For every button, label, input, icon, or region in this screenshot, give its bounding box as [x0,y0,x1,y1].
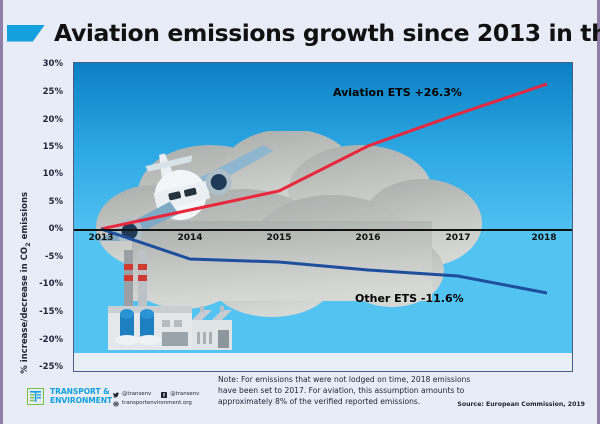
social-row-top: @transenv @transenv [113,390,199,399]
y-tick-30: 30% [43,59,63,69]
y-axis-title-suffix: emissions [20,192,30,242]
organization-logo[interactable]: TRANSPORT & ENVIRONMENT [27,388,112,405]
y-tick-m10: -10% [39,279,63,289]
zero-axis-line [74,229,572,231]
twitter-icon[interactable] [113,392,119,398]
chart-plot-area: 2013 2014 2015 2016 2017 2018 [73,62,573,372]
y-tick-5: 5% [49,197,63,207]
globe-icon[interactable] [113,401,119,407]
x-tick-2018: 2018 [531,233,556,243]
y-axis-title-sub: 2 [24,242,32,247]
chart-series-lines [74,63,573,372]
x-tick-2013: 2013 [88,233,113,243]
x-tick-2017: 2017 [445,233,470,243]
page-title-text: Aviation emissions growth since 2013 in … [54,19,600,47]
y-tick-25: 25% [43,87,63,97]
logo-wordmark: TRANSPORT & ENVIRONMENT [50,388,112,405]
source-credit: Source: European Commission, 2019 [457,401,585,408]
y-axis: % increase/decrease in CO2 emissions 30%… [3,62,71,372]
y-tick-m5: -5% [45,252,63,262]
footnote: Note: For emissions that were not lodged… [218,374,483,407]
te-monogram-icon [27,388,44,405]
title-flag-icon [7,25,45,42]
y-tick-0: 0% [49,224,63,234]
y-tick-m20: -20% [39,335,63,345]
y-tick-m25: -25% [39,362,63,372]
x-tick-2016: 2016 [355,233,380,243]
website-url[interactable]: transportenvironment.org [122,399,192,408]
y-axis-title: % increase/decrease in CO2 emissions [20,188,32,378]
social-links: @transenv @transenv transportenvironment… [113,390,199,409]
other-ets-annotation: Other ETS -11.6% [355,292,464,305]
logo-line-2: ENVIRONMENT [50,397,112,406]
page-title: Aviation emissions growth since 2013 in … [3,14,600,52]
y-tick-20: 20% [43,115,63,125]
y-axis-title-prefix: % increase/decrease in CO [20,247,30,374]
aviation-ets-annotation: Aviation ETS +26.3% [333,86,462,99]
x-tick-2014: 2014 [177,233,202,243]
y-tick-m15: -15% [39,307,63,317]
series-line-other-ets [101,229,547,293]
y-tick-10: 10% [43,169,63,179]
series-line-aviation-ets [101,84,547,229]
social-row-bottom: transportenvironment.org [113,399,199,408]
x-tick-2015: 2015 [266,233,291,243]
twitter-handle[interactable]: @transenv [122,390,151,399]
y-tick-15: 15% [43,142,63,152]
facebook-handle[interactable]: @transenv [170,390,199,399]
infographic-page: Aviation emissions growth since 2013 in … [0,0,600,424]
facebook-icon[interactable] [161,392,167,398]
